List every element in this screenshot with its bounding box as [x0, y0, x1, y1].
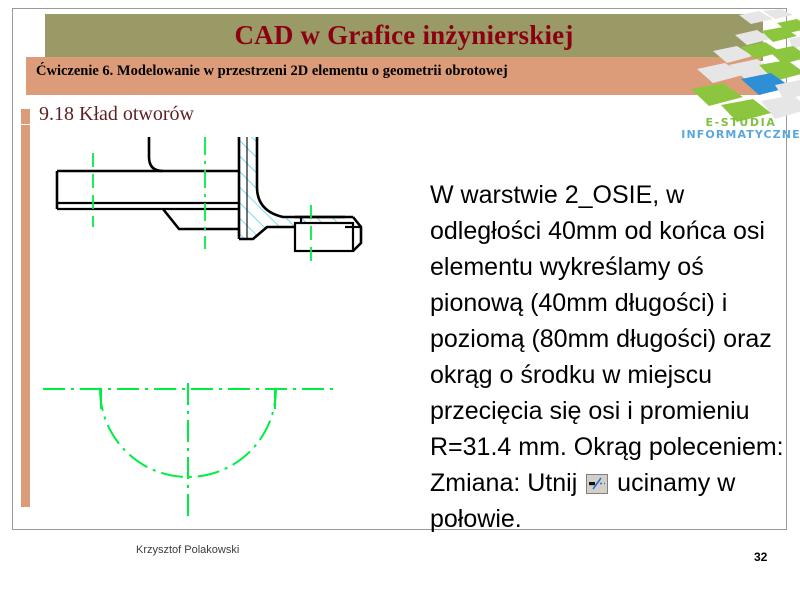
subtitle-banner: Ćwiczenie 6. Modelowanie w przestrzeni 2…: [26, 57, 761, 95]
revolved-arc-view: [43, 383, 333, 519]
footer-author: Krzysztof Polakowski: [136, 544, 239, 556]
logo-line-1: E-STUDIA: [677, 117, 800, 129]
slide-canvas: CAD w Grafice inżynierskiej Ćwiczenie 6.…: [12, 8, 787, 530]
trim-tool-icon[interactable]: [586, 474, 608, 494]
subtitle-text: Ćwiczenie 6. Modelowanie w przestrzeni 2…: [36, 63, 508, 80]
footer-page-number: 32: [754, 550, 767, 564]
section-heading: 9.18 Kład otworów: [39, 103, 194, 126]
page-title: CAD w Grafice inżynierskiej: [45, 20, 763, 51]
left-accent-bar: [21, 125, 30, 507]
logo-caption: E-STUDIA INFORMATYCZNE: [677, 117, 800, 140]
section-bullet-marker: [21, 109, 30, 124]
cad-drawing: [43, 131, 403, 521]
body-paragraph: W warstwie 2_OSIE, w odległości 40mm od …: [430, 177, 790, 537]
paragraph-text-before-icon: W warstwie 2_OSIE, w odległości 40mm od …: [430, 181, 784, 497]
centerlines: [93, 137, 311, 265]
cross-section-view: [57, 137, 361, 265]
logo-line-2: INFORMATYCZNE: [677, 129, 800, 141]
title-banner: CAD w Grafice inżynierskiej: [45, 14, 763, 61]
